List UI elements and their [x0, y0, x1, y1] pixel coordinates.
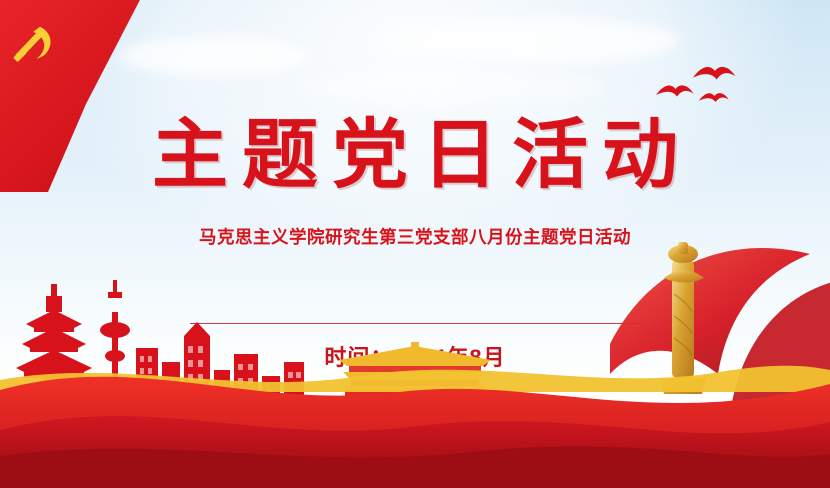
red-ribbon-icon	[0, 338, 830, 488]
cloud-shape	[300, 70, 600, 104]
cloud-shape	[420, 18, 680, 64]
poster-canvas: 主题党日活动 马克思主义学院研究生第三党支部八月份主题党日活动 时间：2024年…	[0, 0, 830, 488]
hammer-sickle-icon	[2, 14, 64, 72]
page-title: 主题党日活动	[0, 118, 830, 194]
